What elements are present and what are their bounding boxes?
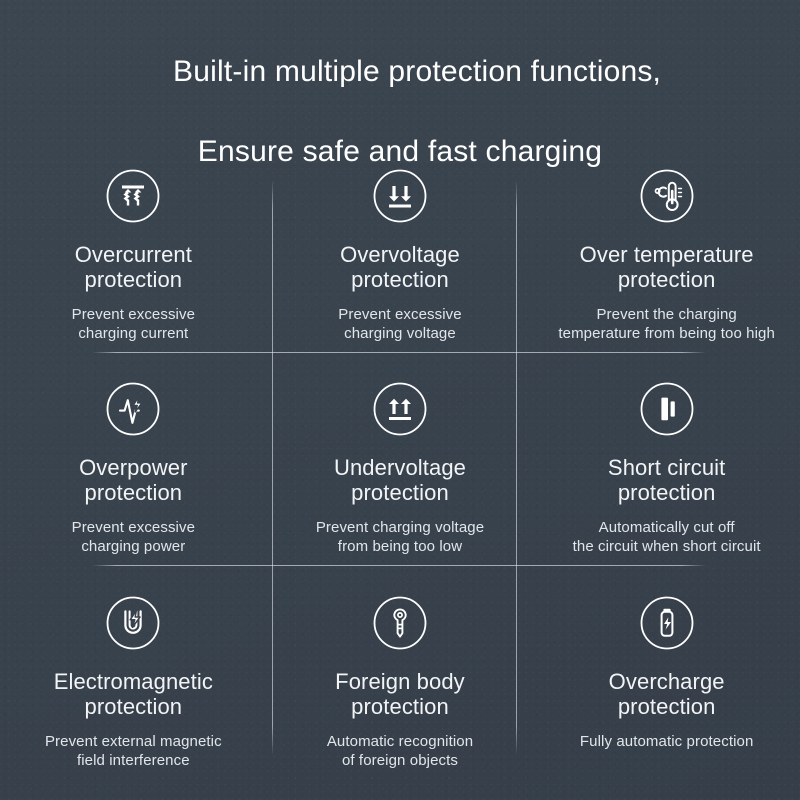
feature-cell-overcurrent: Overcurrent protection Prevent excessive… [0, 150, 267, 363]
feature-description: Automatic recognition of foreign objects [327, 732, 473, 770]
overcurrent-icon [103, 166, 163, 226]
battery-charge-icon [637, 593, 697, 653]
feature-cell-overcharge: Overcharge protection Fully automatic pr… [533, 577, 800, 790]
feature-cell-overpower: Overpower protection Prevent excessive c… [0, 363, 267, 576]
thermometer-icon [637, 166, 697, 226]
feature-cell-undervoltage: Undervoltage protection Prevent charging… [267, 363, 534, 576]
feature-description: Prevent the charging temperature from be… [558, 305, 775, 343]
short-circuit-icon [637, 379, 697, 439]
feature-cell-short-circuit: Short circuit protection Automatically c… [533, 363, 800, 576]
feature-cell-overvoltage: Overvoltage protection Prevent excessive… [267, 150, 534, 363]
feature-title: Electromagnetic protection [54, 669, 213, 719]
key-icon [370, 593, 430, 653]
feature-cell-over-temperature: Over temperature protection Prevent the … [533, 150, 800, 363]
heading-line-1: Built-in multiple protection functions, [173, 55, 661, 88]
overvoltage-icon [370, 166, 430, 226]
feature-title: Foreign body protection [335, 669, 465, 719]
feature-description: Prevent excessive charging voltage [338, 305, 461, 343]
feature-title: Overcharge protection [609, 669, 725, 719]
feature-cell-foreign-body: Foreign body protection Automatic recogn… [267, 577, 534, 790]
promo-panel: Built-in multiple protection functions, … [0, 0, 800, 800]
feature-description: Prevent excessive charging current [72, 305, 195, 343]
feature-description: Fully automatic protection [580, 732, 754, 751]
overpower-pulse-icon [103, 379, 163, 439]
feature-cell-electromagnetic: Electromagnetic protection Prevent exter… [0, 577, 267, 790]
feature-title: Short circuit protection [608, 455, 725, 505]
magnet-icon [103, 593, 163, 653]
feature-description: Prevent charging voltage from being too … [316, 518, 484, 556]
feature-title: Overcurrent protection [75, 242, 192, 292]
undervoltage-icon [370, 379, 430, 439]
feature-title: Undervoltage protection [334, 455, 466, 505]
feature-title: Over temperature protection [580, 242, 754, 292]
feature-title: Overvoltage protection [340, 242, 460, 292]
feature-description: Automatically cut off the circuit when s… [573, 518, 761, 556]
feature-title: Overpower protection [79, 455, 188, 505]
feature-grid: Overcurrent protection Prevent excessive… [0, 150, 800, 790]
feature-description: Prevent excessive charging power [72, 518, 195, 556]
feature-description: Prevent external magnetic field interfer… [45, 732, 222, 770]
